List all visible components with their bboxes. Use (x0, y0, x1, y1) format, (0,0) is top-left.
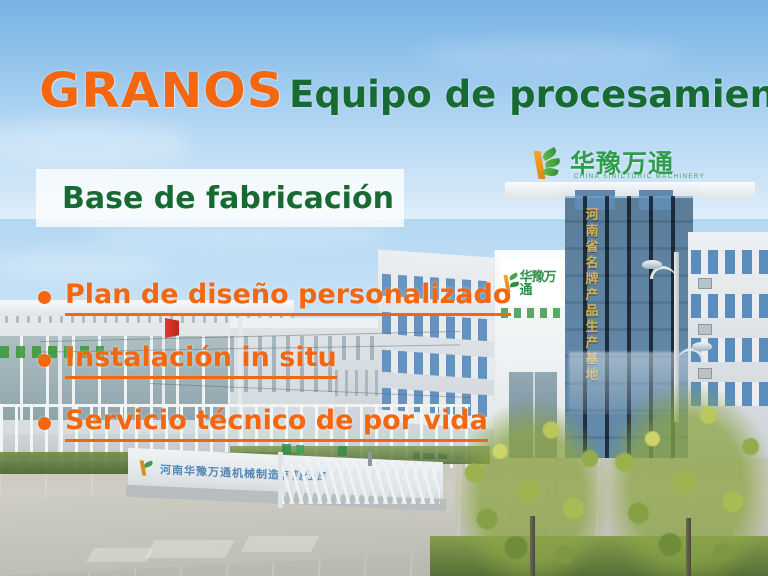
tree-trunk (530, 516, 535, 576)
list-item-label: Plan de diseño personalizado (65, 279, 511, 316)
tree-trunk (686, 518, 691, 576)
accordion-gate (282, 462, 440, 504)
vertical-char: 生 (585, 320, 598, 333)
headline: GRANOS Equipo de procesamiento (44, 63, 768, 119)
pavement-patch (241, 536, 320, 552)
vertical-char: 南 (585, 224, 598, 237)
vertical-char: 名 (585, 256, 598, 269)
vertical-char: 产 (585, 288, 598, 301)
vertical-char: 牌 (585, 272, 598, 285)
list-item: Servicio técnico de por vida (38, 392, 508, 455)
promo-banner: 华豫万通 河 南 省 名 牌 产 品 生 产 基 地 (0, 0, 768, 576)
tree-crown (600, 380, 768, 576)
v-leaf-logo-icon (138, 458, 154, 477)
vertical-char: 品 (585, 304, 598, 317)
lamp-head (642, 260, 662, 269)
feature-list: Plan de diseño personalizado Instalación… (38, 266, 508, 455)
subtitle-text: Base de fabricación (62, 181, 394, 216)
v-leaf-logo-icon (530, 147, 564, 181)
rooftop-sign-english: CHINA SINICTORIC MACHINERY (574, 174, 705, 180)
list-item-label: Servicio técnico de por vida (65, 405, 488, 442)
vertical-char: 省 (585, 240, 598, 253)
cloud (0, 120, 190, 166)
list-item: Instalación in situ (38, 329, 508, 392)
bullet-dot-icon (38, 417, 51, 430)
pavement-patch (145, 540, 235, 558)
bullet-dot-icon (38, 291, 51, 304)
list-item: Plan de diseño personalizado (38, 266, 508, 329)
vertical-char: 产 (585, 336, 598, 349)
headline-keyword: GRANOS (39, 63, 283, 119)
pavement-patch (86, 548, 153, 562)
rooftop-sign-chinese: 华豫万通 (570, 152, 674, 177)
vertical-char: 河 (585, 208, 598, 221)
rooftop-company-sign: 华豫万通 CHINA SINICTORIC MACHINERY (530, 142, 730, 186)
bullet-dot-icon (38, 354, 51, 367)
list-item-label: Instalación in situ (65, 342, 337, 379)
entrance-sign-chinese: 华豫万通 (520, 270, 564, 296)
tree (600, 346, 768, 576)
headline-rest: Equipo de procesamiento (289, 73, 768, 116)
subtitle-box: Base de fabricación (36, 169, 404, 227)
